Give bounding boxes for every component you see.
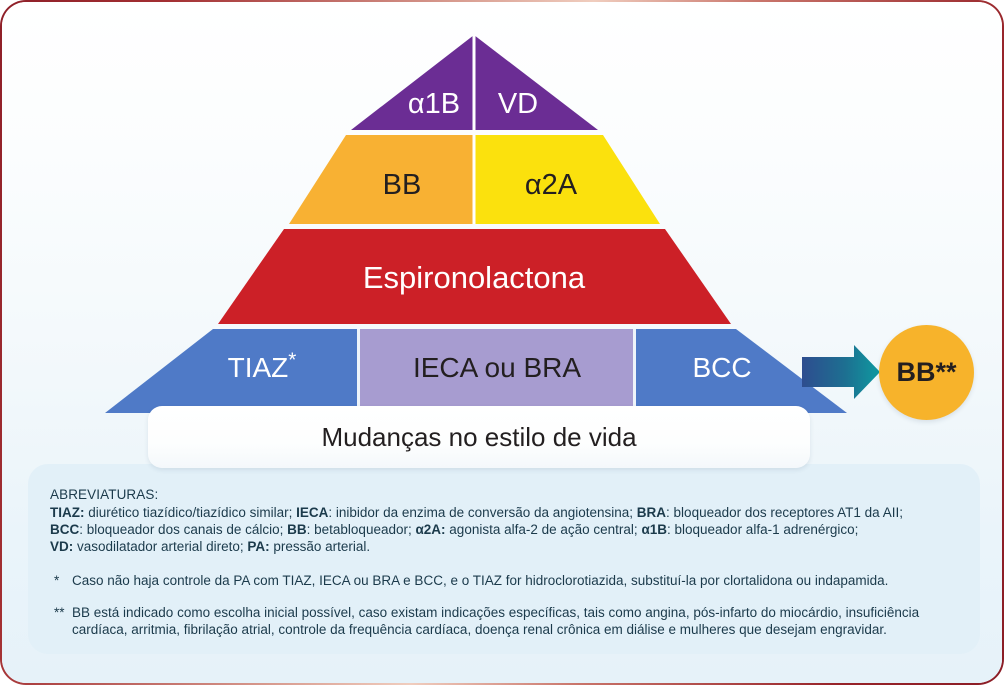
- bb-alternative-circle[interactable]: BB**: [879, 325, 974, 420]
- pyramid-block-alpha2a[interactable]: [474, 135, 660, 224]
- pyramid-block-vd[interactable]: [474, 35, 598, 130]
- legend-line-2: BCC: bloqueador dos canais de cálcio; BB…: [50, 521, 955, 538]
- bb-alternative-label: BB**: [896, 357, 956, 388]
- footnote-2-marker: **: [50, 604, 72, 638]
- lifestyle-changes-box[interactable]: Mudanças no estilo de vida: [148, 406, 810, 468]
- footnote-single-asterisk: * Caso não haja controle da PA com TIAZ,…: [50, 572, 955, 589]
- diagram-frame: α1B VD BB α2A Espironolactona TIAZ* IECA…: [0, 0, 1004, 685]
- legend-line-1: TIAZ: diurético tiazídico/tiazídico simi…: [50, 504, 955, 521]
- pyramid-block-espironolactona[interactable]: [218, 229, 731, 324]
- legend: ABREVIATURAS: TIAZ: diurético tiazídico/…: [50, 487, 955, 638]
- footnote-1-marker: *: [50, 572, 72, 589]
- pyramid-block-alpha1b[interactable]: [351, 35, 474, 130]
- pyramid-block-ieca-bra[interactable]: [360, 329, 633, 413]
- legend-heading: ABREVIATURAS:: [50, 487, 955, 502]
- legend-line-3: VD: vasodilatador arterial direto; PA: p…: [50, 538, 955, 555]
- lifestyle-changes-label: Mudanças no estilo de vida: [321, 422, 636, 453]
- pyramid-block-bb[interactable]: [289, 135, 474, 224]
- footnote-double-asterisk: ** BB está indicado como escolha inicial…: [50, 604, 955, 638]
- footnote-2-text: BB está indicado como escolha inicial po…: [72, 604, 955, 638]
- legend-abbreviation-lines: TIAZ: diurético tiazídico/tiazídico simi…: [50, 504, 955, 555]
- footnote-1-text: Caso não haja controle da PA com TIAZ, I…: [72, 572, 955, 589]
- pyramid-block-tiaz[interactable]: [105, 329, 357, 413]
